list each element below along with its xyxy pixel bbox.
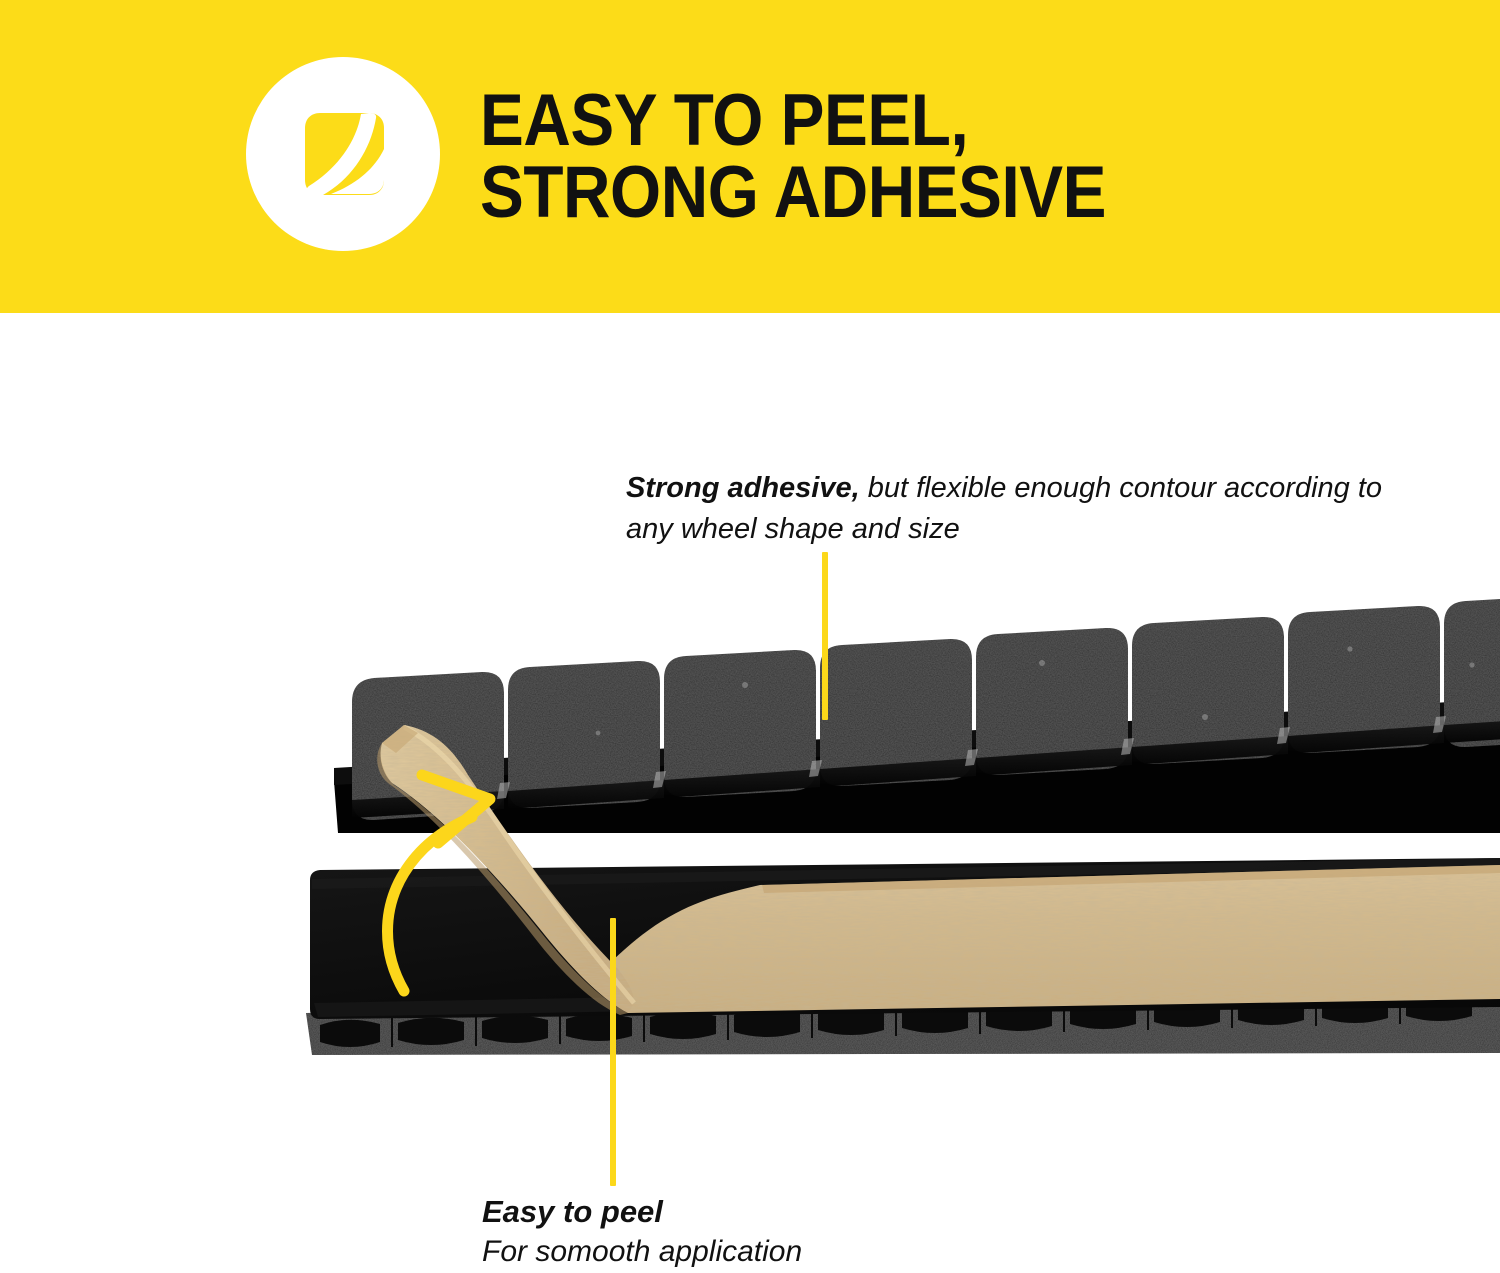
peel-tab-logo-icon (283, 94, 403, 214)
callout-top-lead: Strong adhesive, (626, 472, 860, 504)
wheel-weight-strip-top-view (334, 597, 1500, 833)
callout-bottom-subtitle: For somooth application (482, 1232, 1002, 1271)
logo-badge (246, 57, 440, 251)
callout-bottom-title: Easy to peel (482, 1192, 1002, 1232)
wheel-weight-strip-adhesive-view (306, 858, 1500, 1055)
product-photo (0, 313, 1500, 1273)
title-line-1: EASY TO PEEL, (480, 85, 1106, 157)
callout-strong-adhesive: Strong adhesive, but flexible enough con… (626, 468, 1406, 550)
infographic-canvas: EASY TO PEEL, STRONG ADHESIVE (0, 0, 1500, 1273)
page-title: EASY TO PEEL, STRONG ADHESIVE (480, 85, 1106, 228)
header-band: EASY TO PEEL, STRONG ADHESIVE (0, 0, 1500, 313)
leader-line-bottom (610, 918, 616, 1186)
leader-line-top (822, 552, 828, 720)
callout-easy-to-peel: Easy to peel For somooth application (482, 1192, 1002, 1271)
header-content: EASY TO PEEL, STRONG ADHESIVE (0, 0, 1500, 313)
title-line-2: STRONG ADHESIVE (480, 157, 1106, 229)
